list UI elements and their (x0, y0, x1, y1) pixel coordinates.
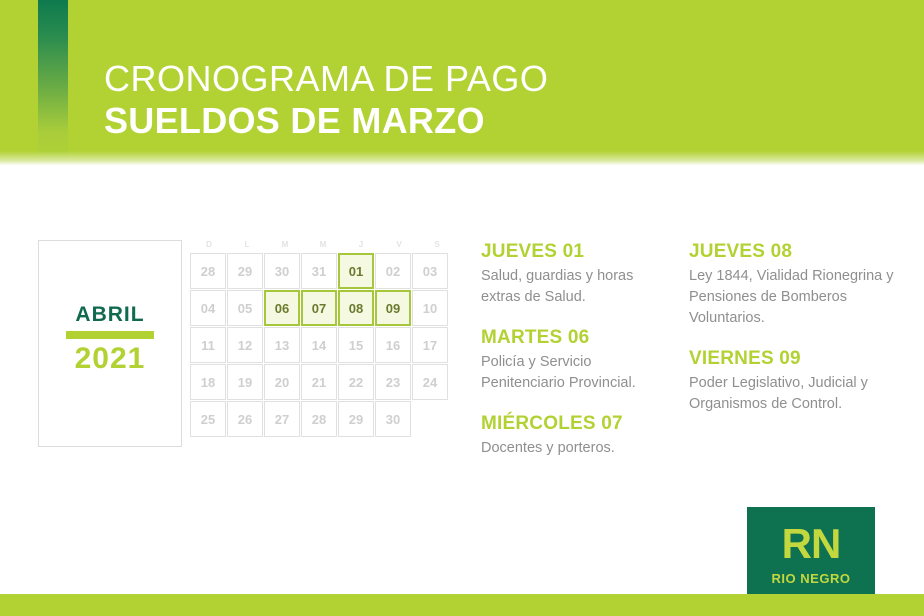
pay-entry-description: Policía y Servicio Penitenciario Provinc… (481, 352, 676, 394)
logo-monogram: RN (747, 521, 875, 567)
calendar-body: 2829303101020304050607080910111213141516… (190, 253, 456, 438)
header-bottom-fade (0, 151, 924, 165)
calendar-day[interactable]: 17 (412, 327, 448, 363)
header-accent-stripe (38, 0, 68, 165)
pay-entry-description: Docentes y porteros. (481, 438, 676, 459)
pay-schedule-column-2: JUEVES 08Ley 1844, Vialidad Rionegrina y… (689, 240, 894, 433)
calendar-day[interactable]: 29 (227, 253, 263, 289)
calendar-day[interactable]: 23 (375, 364, 411, 400)
calendar-day-highlighted[interactable]: 08 (338, 290, 374, 326)
logo-wordmark: RIO NEGRO (747, 571, 875, 587)
calendar-grid: DLMMJVS 28293031010203040506070809101112… (190, 238, 456, 438)
month-divider-rule (66, 331, 154, 339)
month-name: ABRIL (39, 303, 181, 327)
calendar-day[interactable]: 22 (338, 364, 374, 400)
calendar-day[interactable]: 27 (264, 401, 300, 437)
calendar-day[interactable]: 20 (264, 364, 300, 400)
header-title-block: CRONOGRAMA DE PAGO SUELDOS DE MARZO (104, 58, 548, 142)
calendar-day[interactable]: 12 (227, 327, 263, 363)
calendar-day[interactable]: 31 (301, 253, 337, 289)
page-title-secondary: SUELDOS DE MARZO (104, 100, 548, 142)
calendar-day[interactable]: 15 (338, 327, 374, 363)
pay-entry-title: MIÉRCOLES 07 (481, 412, 676, 436)
rio-negro-logo: RN RIO NEGRO (747, 507, 875, 605)
calendar-weekday-label: J (342, 238, 380, 252)
calendar-day[interactable]: 04 (190, 290, 226, 326)
pay-entry-title: JUEVES 08 (689, 240, 894, 264)
calendar-day[interactable]: 21 (301, 364, 337, 400)
calendar-day[interactable]: 10 (412, 290, 448, 326)
pay-entry: MIÉRCOLES 07Docentes y porteros. (481, 412, 676, 459)
calendar-weekday-label: S (418, 238, 456, 252)
pay-entry: JUEVES 01Salud, guardias y horas extras … (481, 240, 676, 308)
pay-entry-description: Poder Legislativo, Judicial y Organismos… (689, 373, 894, 415)
calendar-day[interactable]: 03 (412, 253, 448, 289)
calendar-day[interactable]: 14 (301, 327, 337, 363)
calendar-weekday-label: L (228, 238, 266, 252)
calendar-day[interactable]: 24 (412, 364, 448, 400)
calendar-day[interactable]: 28 (190, 253, 226, 289)
header-banner: CRONOGRAMA DE PAGO SUELDOS DE MARZO (0, 0, 924, 165)
calendar-day[interactable]: 29 (338, 401, 374, 437)
footer-bar (0, 594, 924, 616)
calendar-day[interactable]: 28 (301, 401, 337, 437)
month-year: 2021 (39, 342, 181, 375)
calendar-week-row: 04050607080910 (190, 290, 456, 327)
calendar-day[interactable]: 02 (375, 253, 411, 289)
calendar-week-row: 28293031010203 (190, 253, 456, 290)
calendar-day-highlighted[interactable]: 07 (301, 290, 337, 326)
page-title-primary: CRONOGRAMA DE PAGO (104, 58, 548, 100)
calendar-day[interactable]: 26 (227, 401, 263, 437)
calendar-day[interactable]: 25 (190, 401, 226, 437)
pay-entry-description: Salud, guardias y horas extras de Salud. (481, 266, 676, 308)
calendar-day[interactable]: 16 (375, 327, 411, 363)
calendar-day-empty (412, 401, 448, 437)
calendar-week-row: 252627282930 (190, 401, 456, 438)
pay-entry: JUEVES 08Ley 1844, Vialidad Rionegrina y… (689, 240, 894, 329)
month-card-content: ABRIL 2021 (39, 303, 181, 375)
calendar-day-highlighted[interactable]: 09 (375, 290, 411, 326)
calendar-day[interactable]: 30 (264, 253, 300, 289)
calendar-weekday-header: DLMMJVS (190, 238, 456, 252)
calendar-day[interactable]: 19 (227, 364, 263, 400)
calendar-day[interactable]: 13 (264, 327, 300, 363)
calendar-day[interactable]: 18 (190, 364, 226, 400)
calendar-day[interactable]: 11 (190, 327, 226, 363)
calendar-day-highlighted[interactable]: 06 (264, 290, 300, 326)
pay-entry-title: MARTES 06 (481, 326, 676, 350)
calendar-week-row: 11121314151617 (190, 327, 456, 364)
calendar-weekday-label: V (380, 238, 418, 252)
month-card: ABRIL 2021 (38, 240, 182, 447)
calendar-day[interactable]: 05 (227, 290, 263, 326)
calendar-day-highlighted[interactable]: 01 (338, 253, 374, 289)
pay-entry-title: VIERNES 09 (689, 347, 894, 371)
pay-entry: MARTES 06Policía y Servicio Penitenciari… (481, 326, 676, 394)
calendar-week-row: 18192021222324 (190, 364, 456, 401)
calendar-weekday-label: M (304, 238, 342, 252)
pay-entry: VIERNES 09Poder Legislativo, Judicial y … (689, 347, 894, 415)
pay-entry-description: Ley 1844, Vialidad Rionegrina y Pensione… (689, 266, 894, 329)
calendar-weekday-label: M (266, 238, 304, 252)
pay-entry-title: JUEVES 01 (481, 240, 676, 264)
pay-schedule-column-1: JUEVES 01Salud, guardias y horas extras … (481, 240, 676, 477)
calendar-weekday-label: D (190, 238, 228, 252)
calendar-day[interactable]: 30 (375, 401, 411, 437)
